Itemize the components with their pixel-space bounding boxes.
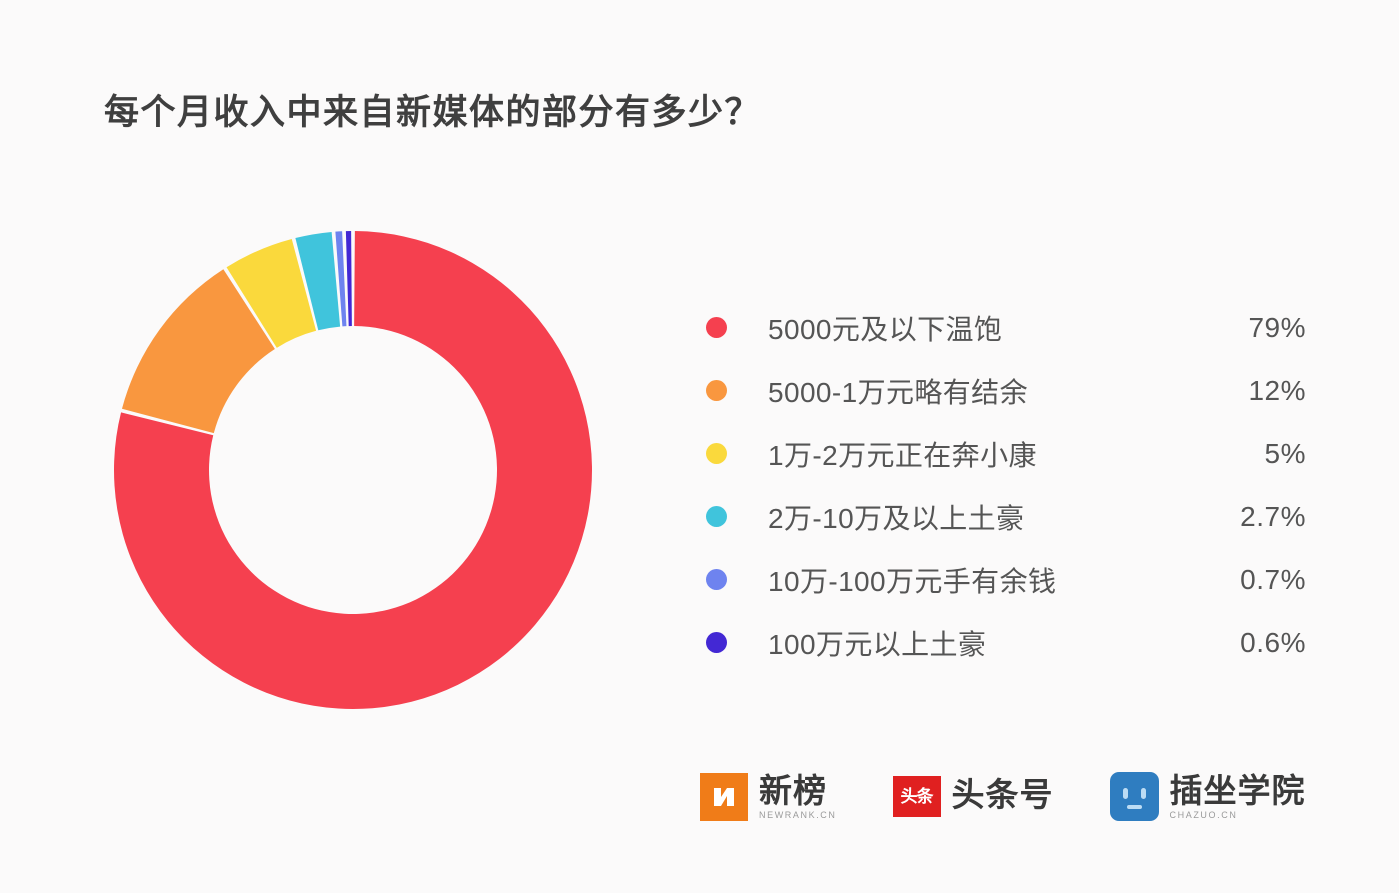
legend-color-swatch-2 bbox=[706, 443, 727, 464]
chazuo-face-icon bbox=[1110, 772, 1159, 821]
legend-value-1: 12% bbox=[1186, 375, 1306, 407]
donut-slice-group bbox=[114, 231, 592, 709]
legend-value-2: 5% bbox=[1186, 438, 1306, 470]
legend-label-1: 5000-1万元略有结余 bbox=[768, 371, 1186, 411]
newrank-text: 新榜 NEWRANK.CN bbox=[759, 774, 837, 820]
donut-chart bbox=[113, 230, 593, 710]
legend-label-0: 5000元及以下温饱 bbox=[768, 308, 1186, 348]
toutiaohao-text: 头条号 bbox=[952, 778, 1054, 815]
legend-item[interactable]: 10万-100万元手有余钱 0.7% bbox=[706, 548, 1306, 611]
legend-label-3: 2万-10万及以上土豪 bbox=[768, 497, 1186, 537]
logo-newrank: 新榜 NEWRANK.CN bbox=[700, 773, 837, 821]
newrank-zigzag-icon bbox=[708, 781, 740, 813]
chazuo-eye-left bbox=[1123, 788, 1128, 799]
legend-color-swatch-0 bbox=[706, 317, 727, 338]
toutiao-mark-text: 头条 bbox=[901, 788, 933, 805]
donut-chart-svg bbox=[113, 230, 593, 710]
footer-logo-bar: 新榜 NEWRANK.CN 头条 头条号 插坐学院 CHAZUO.CN bbox=[700, 772, 1306, 821]
legend-label-2: 1万-2万元正在奔小康 bbox=[768, 434, 1186, 474]
newrank-mark-icon bbox=[700, 773, 748, 821]
legend-item[interactable]: 5000元及以下温饱 79% bbox=[706, 296, 1306, 359]
legend-value-4: 0.7% bbox=[1186, 564, 1306, 596]
toutiao-mark-icon: 头条 bbox=[893, 776, 941, 817]
legend-color-swatch-4 bbox=[706, 569, 727, 590]
logo-chazuo: 插坐学院 CHAZUO.CN bbox=[1110, 772, 1306, 821]
logo-sub-chazuo: CHAZUO.CN bbox=[1170, 811, 1306, 820]
legend-value-0: 79% bbox=[1186, 312, 1306, 344]
legend-item[interactable]: 2万-10万及以上土豪 2.7% bbox=[706, 485, 1306, 548]
legend-item[interactable]: 100万元以上土豪 0.6% bbox=[706, 611, 1306, 674]
legend-item[interactable]: 5000-1万元略有结余 12% bbox=[706, 359, 1306, 422]
legend-value-3: 2.7% bbox=[1186, 501, 1306, 533]
logo-name-chazuo: 插坐学院 bbox=[1170, 774, 1306, 807]
logo-name-toutiaohao: 头条号 bbox=[952, 778, 1054, 811]
legend-value-5: 0.6% bbox=[1186, 627, 1306, 659]
chazuo-text: 插坐学院 CHAZUO.CN bbox=[1170, 774, 1306, 820]
logo-name-newrank: 新榜 bbox=[759, 774, 837, 807]
legend-color-swatch-5 bbox=[706, 632, 727, 653]
logo-sub-newrank: NEWRANK.CN bbox=[759, 811, 837, 820]
chazuo-mouth bbox=[1127, 805, 1142, 809]
legend-color-swatch-1 bbox=[706, 380, 727, 401]
chart-legend: 5000元及以下温饱 79% 5000-1万元略有结余 12% 1万-2万元正在… bbox=[706, 296, 1306, 674]
logo-toutiaohao: 头条 头条号 bbox=[893, 776, 1054, 817]
page-title: 每个月收入中来自新媒体的部分有多少？ bbox=[104, 84, 761, 135]
chazuo-eye-right bbox=[1141, 788, 1146, 799]
legend-item[interactable]: 1万-2万元正在奔小康 5% bbox=[706, 422, 1306, 485]
legend-label-4: 10万-100万元手有余钱 bbox=[768, 560, 1186, 600]
legend-label-5: 100万元以上土豪 bbox=[768, 623, 1186, 663]
donut-slice[interactable] bbox=[346, 231, 352, 326]
legend-color-swatch-3 bbox=[706, 506, 727, 527]
